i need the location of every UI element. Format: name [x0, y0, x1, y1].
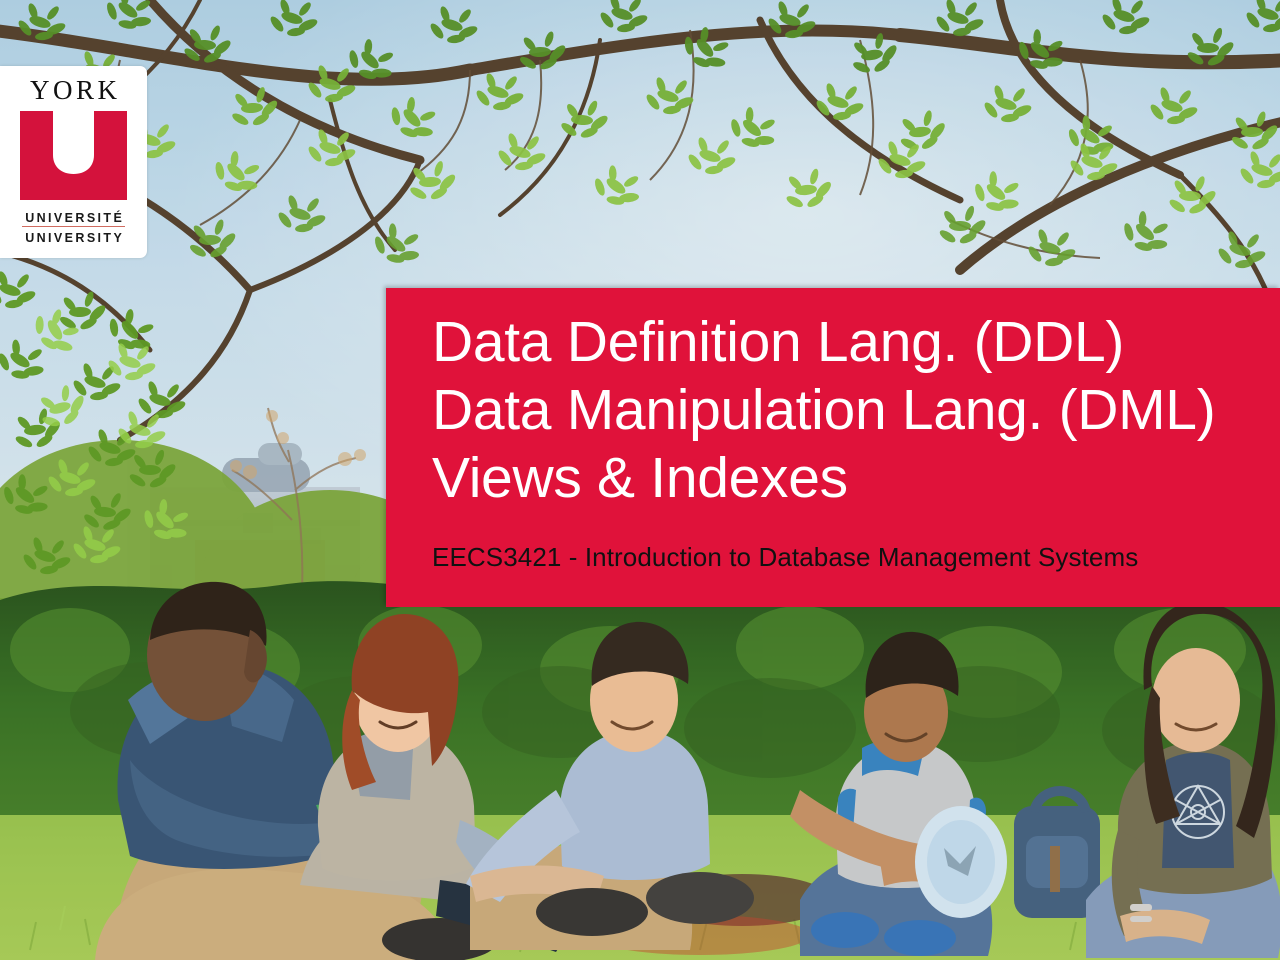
- slide-title: Data Definition Lang. (DDL) Data Manipul…: [432, 308, 1270, 512]
- title-line-3: Views & Indexes: [432, 444, 1270, 512]
- slide-subtitle: EECS3421 - Introduction to Database Mana…: [432, 542, 1138, 572]
- title-banner: Data Definition Lang. (DDL) Data Manipul…: [386, 288, 1280, 607]
- logo-divider-rule: [22, 226, 125, 227]
- york-university-logo: YORK UNIVERSITÉ UNIVERSITY: [0, 66, 147, 258]
- title-slide: YORK UNIVERSITÉ UNIVERSITY Data Definiti…: [0, 0, 1280, 960]
- logo-subtitle-en: UNIVERSITY: [0, 232, 147, 245]
- title-line-1: Data Definition Lang. (DDL): [432, 308, 1270, 376]
- title-line-2: Data Manipulation Lang. (DML): [432, 376, 1270, 444]
- york-wordmark: YORK: [0, 77, 147, 104]
- logo-subtitle-fr: UNIVERSITÉ: [0, 212, 147, 225]
- york-u-icon: [20, 111, 127, 200]
